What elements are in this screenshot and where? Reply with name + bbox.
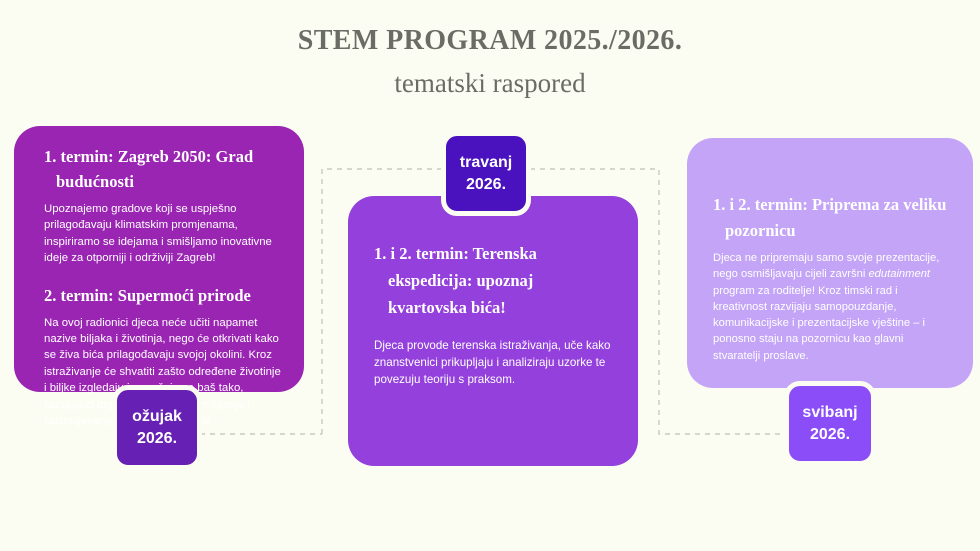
card-body-expedition: Djeca provode terenska istraživanja, uče… (374, 337, 612, 388)
badge-svibanj-month: svibanj (802, 402, 857, 424)
badge-ozujak[interactable]: ožujak 2026. (112, 385, 202, 470)
card-body-stage: Djeca ne pripremaju samo svoje prezentac… (713, 250, 949, 364)
card-zagreb-2050[interactable]: 1. termin: Zagreb 2050: Grad budućnosti … (14, 126, 304, 392)
card-heading-term-2: 2. termin: Supermoći prirode (44, 283, 282, 308)
card-heading-stage: 1. i 2. termin: Priprema za veliku pozor… (713, 192, 949, 244)
infographic-canvas: STEM PROGRAM 2025./2026. tematski raspor… (0, 0, 980, 551)
card-body-stage-part2: program za roditelje! Kroz timski rad i … (713, 285, 925, 362)
card-heading-term-1: 1. termin: Zagreb 2050: Grad budućnosti (44, 144, 282, 194)
title-line-primary: STEM PROGRAM 2025./2026. (0, 22, 980, 60)
badge-svibanj-year: 2026. (810, 424, 850, 446)
badge-ozujak-year: 2026. (137, 428, 177, 450)
card-heading-expedition: 1. i 2. termin: Terenska ekspedicija: up… (374, 240, 612, 321)
badge-ozujak-month: ožujak (132, 406, 182, 428)
card-priprema-pozornica[interactable]: 1. i 2. termin: Priprema za veliku pozor… (687, 138, 973, 388)
badge-travanj-month: travanj (460, 152, 512, 174)
card-terenska-ekspedicija[interactable]: 1. i 2. termin: Terenska ekspedicija: up… (348, 196, 638, 466)
badge-svibanj[interactable]: svibanj 2026. (784, 381, 876, 466)
badge-travanj-year: 2026. (466, 174, 506, 196)
card-body-stage-emphasis: edutainment (868, 268, 930, 280)
title-line-secondary: tematski raspored (0, 63, 980, 103)
card-body-term-1: Upoznajemo gradove koji se uspješno pril… (44, 201, 282, 267)
page-title: STEM PROGRAM 2025./2026. tematski raspor… (0, 22, 980, 103)
badge-travanj[interactable]: travanj 2026. (441, 131, 531, 216)
